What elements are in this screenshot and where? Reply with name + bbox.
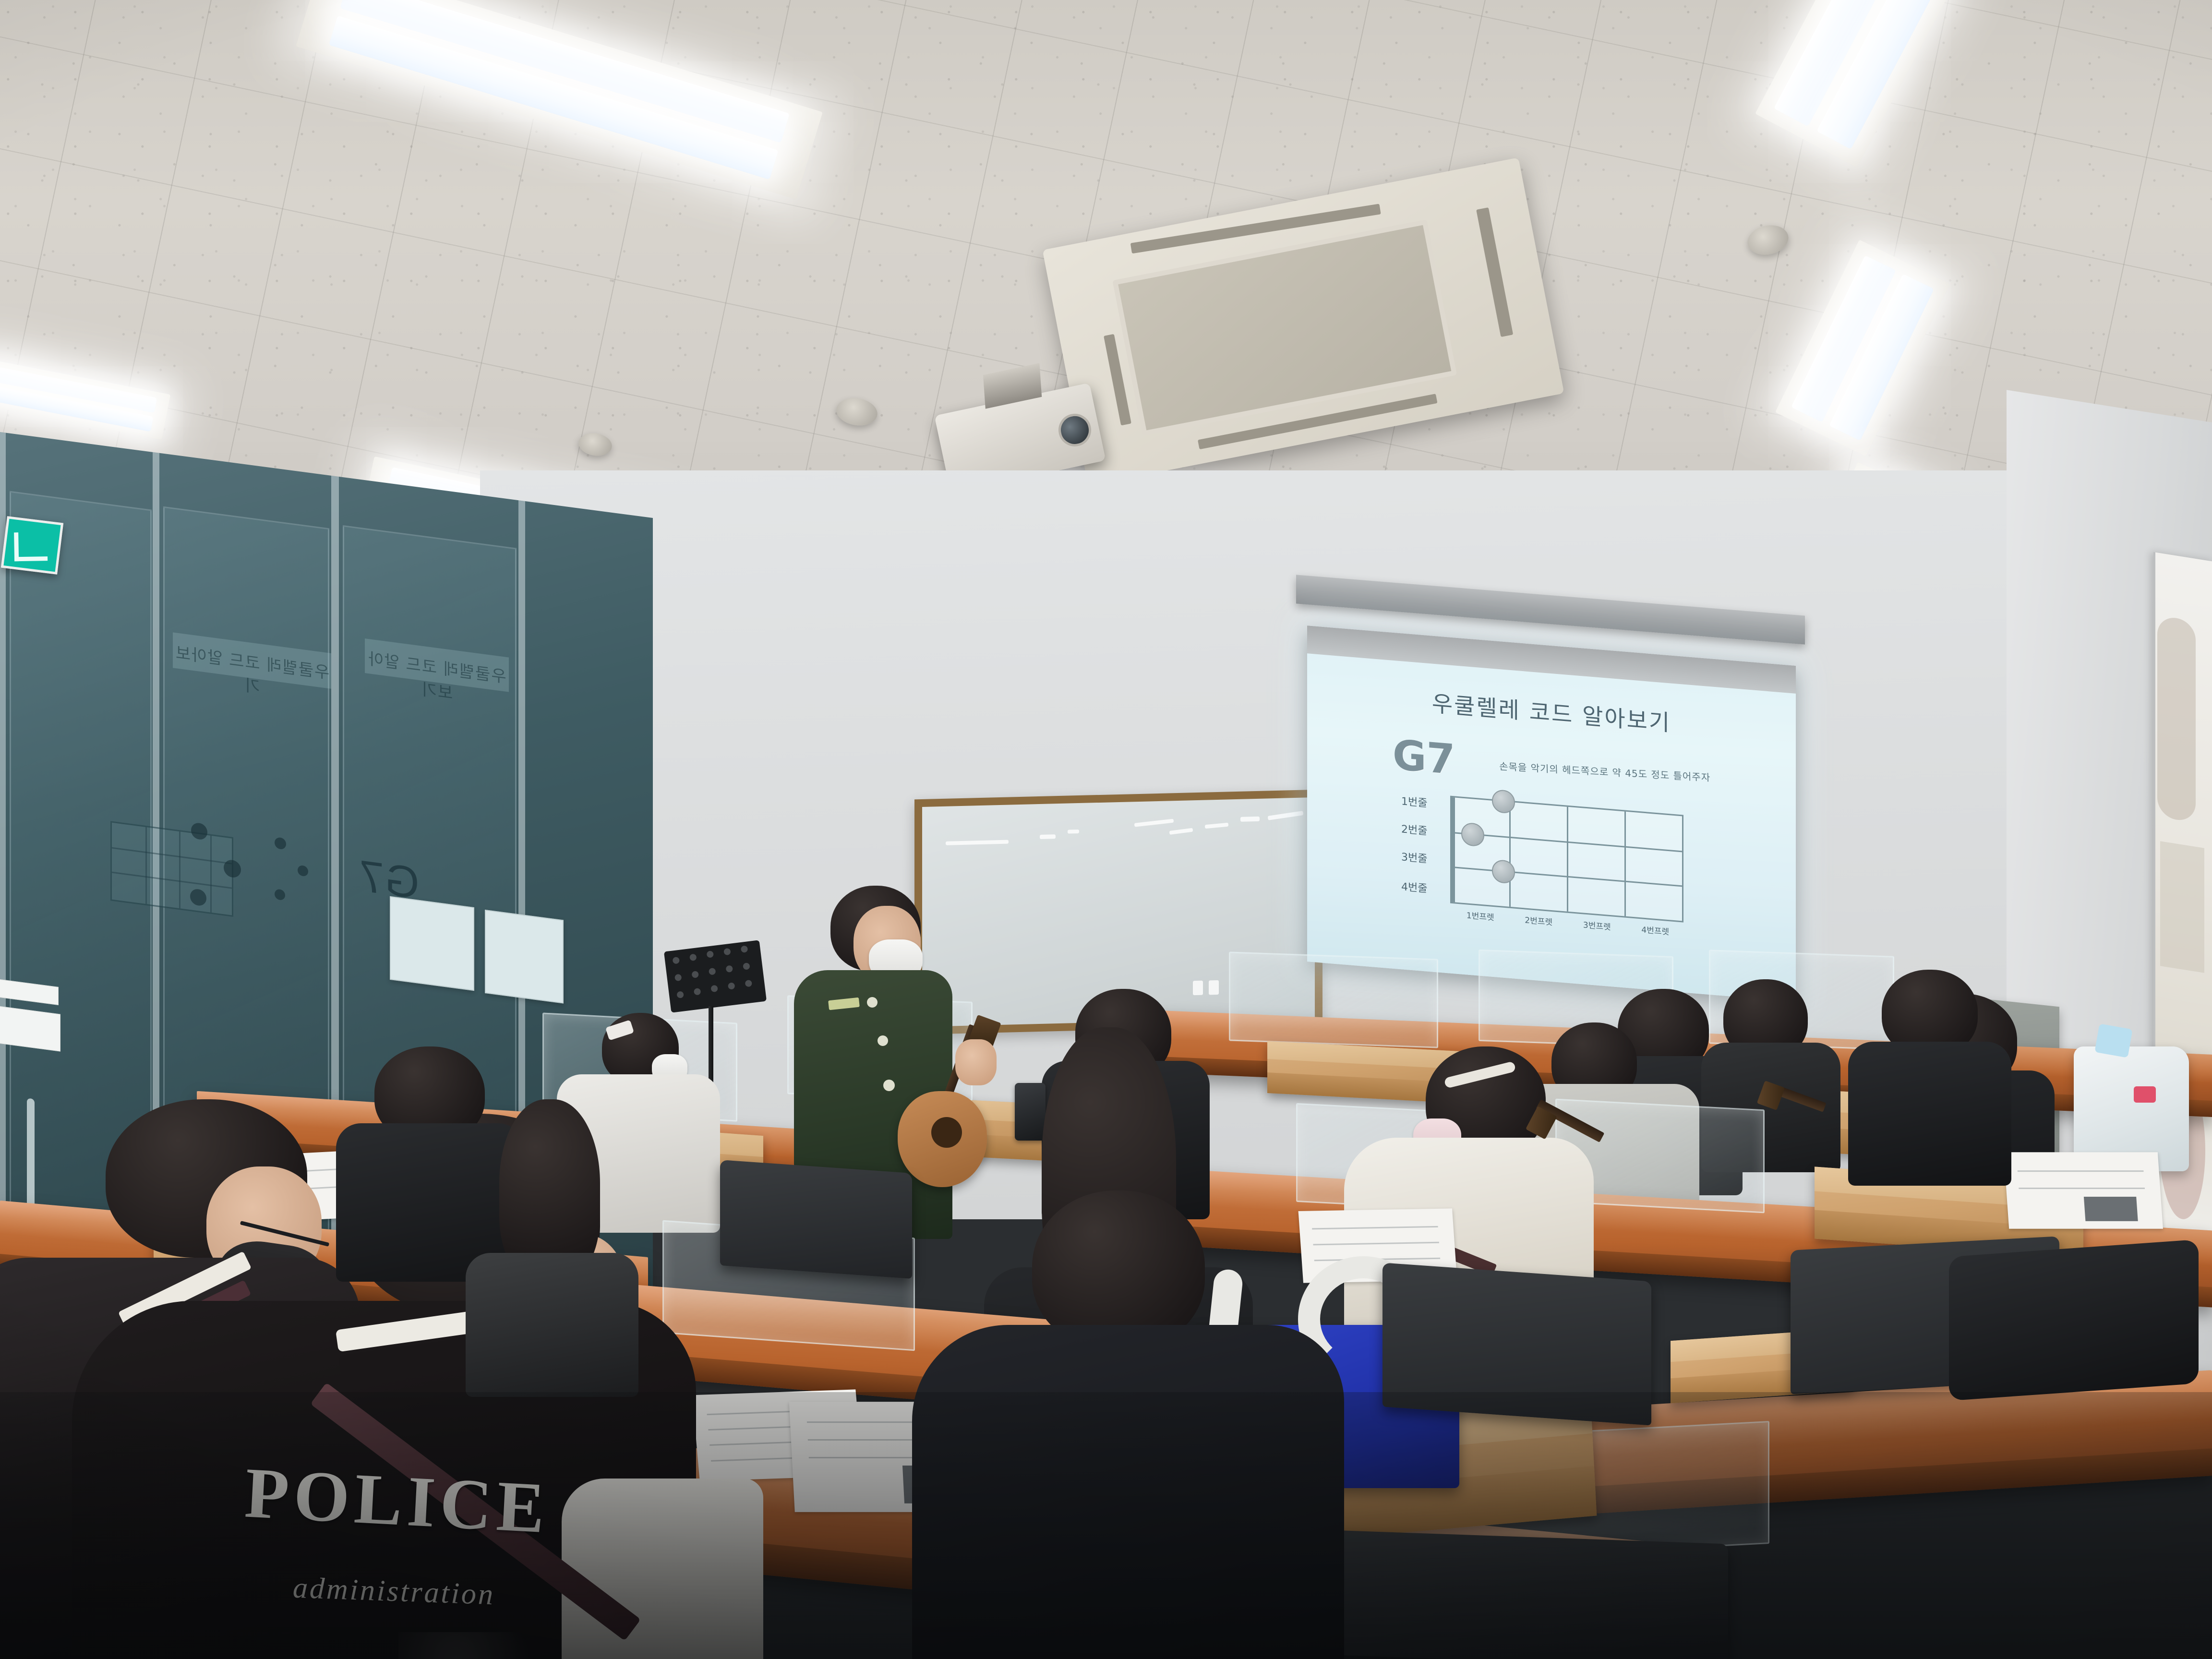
projector-lens [1056, 411, 1094, 450]
music-stand-tray [664, 940, 767, 1012]
jacket-button [878, 1035, 888, 1046]
smartphone[interactable] [1015, 1083, 1046, 1141]
sheet-music [2004, 1152, 2163, 1229]
slide-chord-name: G7 [1393, 731, 1455, 784]
fret-label-3: 3번프렛 [1583, 918, 1611, 932]
glass-reflection-chord-grid [110, 821, 233, 917]
door-handle[interactable] [27, 1098, 35, 1219]
posted-notice [390, 896, 474, 991]
chair[interactable] [720, 1160, 912, 1279]
string-label-3: 3번줄 [1401, 848, 1427, 866]
string-label-2: 2번줄 [1401, 820, 1427, 838]
instructor-hand [955, 1039, 997, 1085]
floor-shadow [0, 1392, 2212, 1659]
chord-dot [1492, 859, 1515, 884]
slide-subtitle: 손목을 악기의 헤드쪽으로 약 45도 정도 틀어주자 [1499, 758, 1711, 784]
jacket-button [867, 997, 878, 1008]
coat-on-chair [1949, 1239, 2199, 1401]
string-label-1: 1번줄 [1401, 793, 1427, 810]
fret-label-1: 1번프렛 [1467, 908, 1494, 923]
acrylic-partition [1229, 951, 1438, 1048]
chord-diagram [1450, 796, 1683, 923]
string-label-4: 4번줄 [1401, 878, 1427, 895]
classroom-photo: 우쿨렐레 코드 알아보기 G7 우쿨렐레 코드 알아보기 우쿨렐레 코드 알아보… [0, 0, 2212, 1659]
chord-dot [1492, 789, 1515, 814]
fret-label-2: 2번프렛 [1525, 913, 1552, 927]
emergency-exit-icon [1, 516, 63, 575]
door-sticker [0, 1006, 60, 1051]
posted-notice [485, 910, 564, 1004]
projection-screen: 우쿨렐레 코드 알아보기 G7 손목을 악기의 헤드쪽으로 약 45도 정도 틀… [1307, 625, 1796, 1002]
chord-dot [1461, 822, 1484, 847]
jacket-button [883, 1080, 895, 1091]
fret-label-4: 4번프렛 [1641, 923, 1669, 937]
